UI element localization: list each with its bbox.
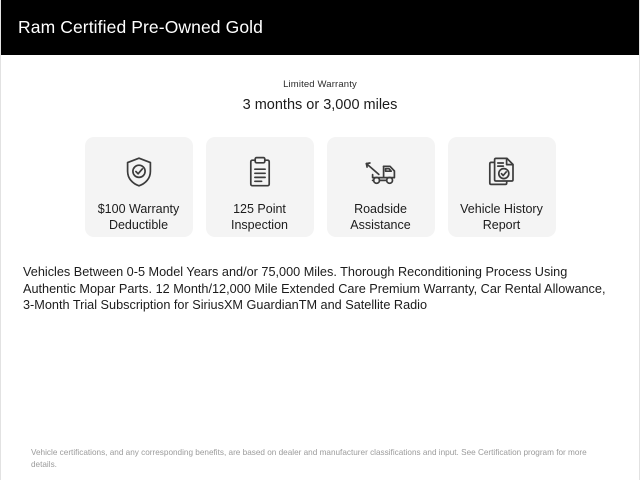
- page-footer: Vehicle certifications, and any correspo…: [1, 447, 639, 470]
- document-check-icon: [485, 154, 519, 190]
- tow-truck-icon: [363, 154, 399, 190]
- program-description: Vehicles Between 0-5 Model Years and/or …: [23, 264, 617, 314]
- warranty-summary: Limited Warranty 3 months or 3,000 miles: [1, 78, 639, 115]
- footer-disclaimer: Vehicle certifications, and any correspo…: [31, 447, 609, 470]
- certified-program-page: Ram Certified Pre-Owned Gold Limited War…: [0, 0, 640, 480]
- page-title: Ram Certified Pre-Owned Gold: [1, 17, 263, 38]
- warranty-label: Limited Warranty: [1, 78, 639, 91]
- feature-card-label: 125 Point Inspection: [227, 201, 292, 233]
- shield-check-icon: [122, 154, 156, 190]
- feature-card-list: $100 Warranty Deductible 125 Point Inspe…: [1, 137, 639, 237]
- feature-card-roadside-assistance[interactable]: Roadside Assistance: [327, 137, 435, 237]
- feature-card-label: Roadside Assistance: [346, 201, 414, 233]
- feature-card-vehicle-history-report[interactable]: Vehicle History Report: [448, 137, 556, 237]
- clipboard-icon: [243, 154, 277, 190]
- warranty-value: 3 months or 3,000 miles: [1, 96, 639, 115]
- page-header: Ram Certified Pre-Owned Gold: [1, 0, 639, 55]
- feature-card-label: $100 Warranty Deductible: [94, 201, 184, 233]
- feature-card-point-inspection[interactable]: 125 Point Inspection: [206, 137, 314, 237]
- feature-card-warranty-deductible[interactable]: $100 Warranty Deductible: [85, 137, 193, 237]
- feature-card-label: Vehicle History Report: [456, 201, 547, 233]
